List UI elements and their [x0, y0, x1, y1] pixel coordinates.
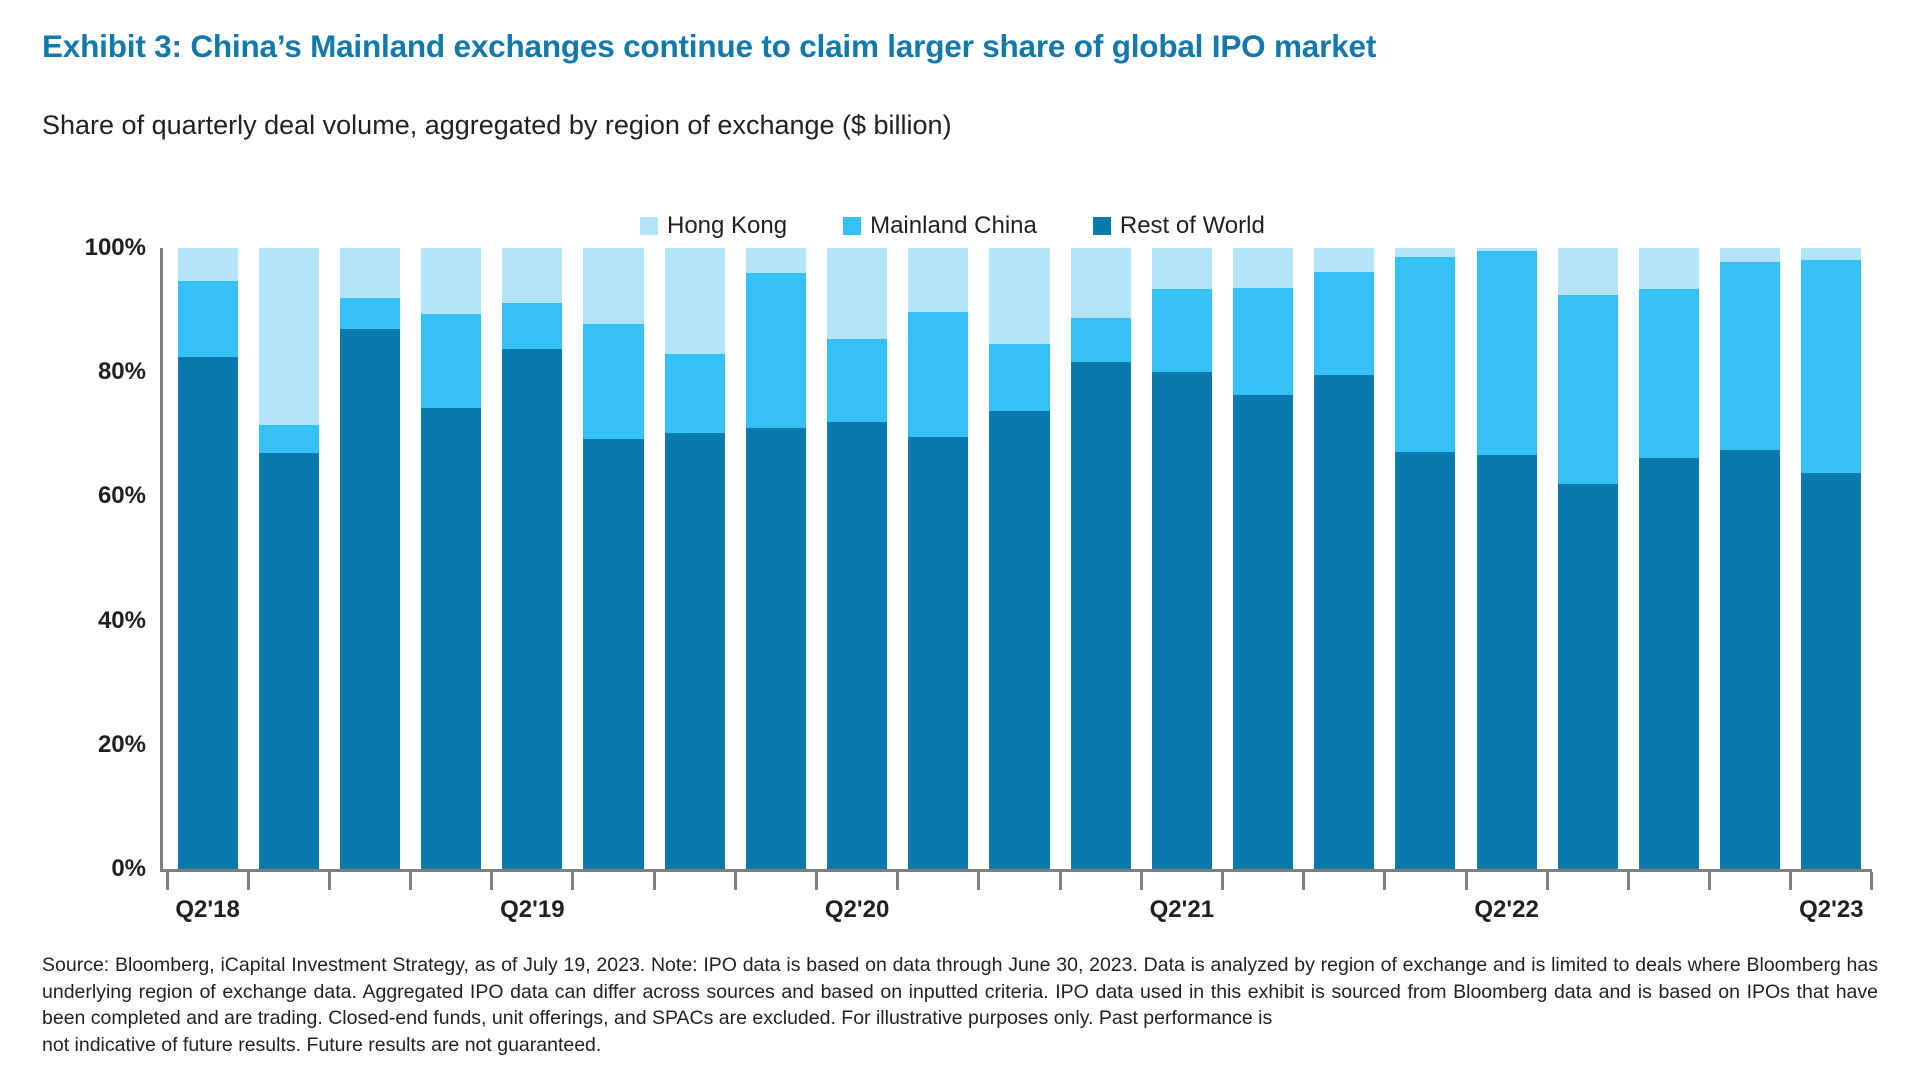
x-tick-cell — [898, 872, 979, 890]
x-tick-mark — [1708, 872, 1711, 890]
bar-slot — [979, 248, 1060, 869]
stacked-bar[interactable] — [746, 248, 806, 869]
x-tick-mark — [1140, 872, 1143, 890]
x-tick-mark — [1221, 872, 1224, 890]
x-tick-mark — [166, 872, 169, 890]
bar-segment-rest-of-world[interactable] — [827, 422, 887, 869]
stacked-bar[interactable] — [827, 248, 887, 869]
x-tick-cell — [167, 872, 248, 890]
x-tick-mark — [1383, 872, 1386, 890]
bar-segment-mainland-china[interactable] — [665, 354, 725, 433]
stacked-bar[interactable] — [1477, 248, 1537, 869]
plot-region — [160, 248, 1872, 872]
x-axis-label-cell — [735, 896, 816, 930]
stacked-bar[interactable] — [502, 248, 562, 869]
stacked-bar[interactable] — [989, 248, 1049, 869]
bar-slot — [1791, 248, 1872, 869]
x-tick-mark — [328, 872, 331, 890]
bar-segment-mainland-china[interactable] — [1071, 318, 1131, 362]
page-subtitle: Share of quarterly deal volume, aggregat… — [42, 110, 1882, 141]
bar-segment-mainland-china[interactable] — [1801, 260, 1861, 473]
bar-segment-rest-of-world[interactable] — [178, 357, 238, 869]
y-axis-tick-label: 100% — [85, 234, 146, 262]
bar-segment-hong-kong[interactable] — [1152, 248, 1212, 289]
bar-segment-mainland-china[interactable] — [827, 339, 887, 422]
y-axis-tick-label: 80% — [98, 358, 146, 386]
x-tick-mark — [896, 872, 899, 890]
x-axis-label-cell — [573, 896, 654, 930]
bar-slot — [1385, 248, 1466, 869]
bar-slot — [1547, 248, 1628, 869]
bar-segment-hong-kong[interactable] — [746, 248, 806, 273]
bar-segment-hong-kong[interactable] — [1395, 248, 1455, 257]
x-axis-label-cell: Q2'18 — [167, 896, 248, 930]
x-axis-label-cell — [1628, 896, 1709, 930]
stacked-bar[interactable] — [1071, 248, 1131, 869]
x-axis-label-cell — [1385, 896, 1466, 930]
bar-segment-hong-kong[interactable] — [340, 248, 400, 298]
x-tick-mark — [1870, 872, 1873, 890]
x-axis-label-cell: Q2'21 — [1141, 896, 1222, 930]
x-tick-mark — [1302, 872, 1305, 890]
x-tick-mark — [1059, 872, 1062, 890]
bar-segment-rest-of-world[interactable] — [1314, 375, 1374, 869]
x-tick-mark — [815, 872, 818, 890]
legend-swatch-mainland-china — [843, 217, 861, 235]
page-title: Exhibit 3: China’s Mainland exchanges co… — [42, 28, 1882, 65]
x-axis-label: Q2'21 — [1150, 896, 1214, 924]
x-tick-mark — [490, 872, 493, 890]
x-axis-label-cell — [248, 896, 329, 930]
stacked-bar[interactable] — [1720, 248, 1780, 869]
bar-segment-hong-kong[interactable] — [502, 248, 562, 303]
bar-segment-rest-of-world[interactable] — [1801, 473, 1861, 869]
bar-segment-hong-kong[interactable] — [989, 248, 1049, 344]
stacked-bar[interactable] — [1152, 248, 1212, 869]
x-tick-cell — [979, 872, 1060, 890]
bar-segment-hong-kong[interactable] — [1720, 248, 1780, 262]
source-footnote: Source: Bloomberg, iCapital Investment S… — [42, 952, 1878, 1058]
bar-slot — [1060, 248, 1141, 869]
bar-segment-rest-of-world[interactable] — [1152, 372, 1212, 869]
bar-segment-rest-of-world[interactable] — [259, 453, 319, 869]
stacked-bar[interactable] — [665, 248, 725, 869]
bar-segment-rest-of-world[interactable] — [908, 437, 968, 869]
x-tick-cell — [735, 872, 816, 890]
x-tick-cell — [654, 872, 735, 890]
stacked-bar[interactable] — [1639, 248, 1699, 869]
bar-segment-hong-kong[interactable] — [583, 248, 643, 324]
bar-segment-rest-of-world[interactable] — [1720, 450, 1780, 869]
x-tick-mark — [571, 872, 574, 890]
bar-slot — [654, 248, 735, 869]
stacked-bar[interactable] — [1395, 248, 1455, 869]
x-tick-cell — [1547, 872, 1628, 890]
x-axis-ticks — [167, 872, 1872, 890]
chart-area: 100%80%60%40%20%0% Q2'18Q2'19Q2'20Q2'21Q… — [42, 236, 1882, 906]
x-axis-label-cell: Q2'22 — [1466, 896, 1547, 930]
x-tick-cell — [1141, 872, 1222, 890]
bar-segment-mainland-china[interactable] — [1314, 272, 1374, 375]
bar-segment-mainland-china[interactable] — [178, 281, 238, 357]
stacked-bar[interactable] — [1558, 248, 1618, 869]
x-tick-mark — [734, 872, 737, 890]
x-axis-label: Q2'22 — [1474, 896, 1538, 924]
bar-segment-mainland-china[interactable] — [502, 303, 562, 348]
x-tick-cell — [411, 872, 492, 890]
x-axis-label-cell — [654, 896, 735, 930]
x-tick-mark — [1465, 872, 1468, 890]
y-axis-tick-label: 20% — [98, 731, 146, 759]
x-tick-cell — [817, 872, 898, 890]
bar-segment-mainland-china[interactable] — [1720, 262, 1780, 451]
bar-segment-hong-kong[interactable] — [178, 248, 238, 281]
bar-segment-rest-of-world[interactable] — [665, 433, 725, 869]
bar-group — [167, 248, 1872, 869]
bar-segment-hong-kong[interactable] — [421, 248, 481, 314]
bar-slot — [573, 248, 654, 869]
stacked-bar[interactable] — [340, 248, 400, 869]
bar-segment-mainland-china[interactable] — [1152, 289, 1212, 372]
bar-segment-mainland-china[interactable] — [340, 298, 400, 329]
bar-segment-rest-of-world[interactable] — [421, 408, 481, 869]
bar-segment-hong-kong[interactable] — [665, 248, 725, 354]
stacked-bar[interactable] — [583, 248, 643, 869]
bar-segment-rest-of-world[interactable] — [989, 411, 1049, 869]
bar-slot — [817, 248, 898, 869]
footnote-last-line: not indicative of future results. Future… — [42, 1032, 1878, 1059]
bar-segment-rest-of-world[interactable] — [1233, 395, 1293, 869]
x-tick-cell — [1304, 872, 1385, 890]
x-axis-label-cell: Q2'20 — [817, 896, 898, 930]
bar-segment-mainland-china[interactable] — [259, 425, 319, 453]
x-axis-label-cell — [329, 896, 410, 930]
bar-segment-mainland-china[interactable] — [1477, 251, 1537, 455]
bar-segment-hong-kong[interactable] — [1233, 248, 1293, 288]
x-axis-label-cell — [1222, 896, 1303, 930]
bar-segment-mainland-china[interactable] — [746, 273, 806, 428]
bar-slot — [411, 248, 492, 869]
x-axis-label: Q2'20 — [825, 896, 889, 924]
x-tick-cell — [1385, 872, 1466, 890]
x-axis-label-cell — [411, 896, 492, 930]
stacked-bar[interactable] — [259, 248, 319, 869]
bar-segment-hong-kong[interactable] — [1314, 248, 1374, 272]
x-axis-label-cell — [1547, 896, 1628, 930]
y-axis-tick-label: 40% — [98, 607, 146, 635]
bar-slot — [1222, 248, 1303, 869]
bar-segment-rest-of-world[interactable] — [340, 329, 400, 869]
bar-segment-rest-of-world[interactable] — [1395, 452, 1455, 869]
bar-segment-mainland-china[interactable] — [989, 344, 1049, 411]
x-tick-cell — [329, 872, 410, 890]
bar-segment-hong-kong[interactable] — [1639, 248, 1699, 289]
bar-segment-mainland-china[interactable] — [908, 312, 968, 437]
stacked-bar[interactable] — [178, 248, 238, 869]
x-axis-label-cell — [1304, 896, 1385, 930]
bar-segment-mainland-china[interactable] — [1233, 288, 1293, 395]
bar-segment-hong-kong[interactable] — [827, 248, 887, 339]
x-axis-label-cell — [1060, 896, 1141, 930]
bar-segment-hong-kong[interactable] — [1801, 248, 1861, 260]
x-tick-cell — [573, 872, 654, 890]
x-tick-mark — [977, 872, 980, 890]
footnote-body: Source: Bloomberg, iCapital Investment S… — [42, 954, 1878, 1029]
stacked-bar[interactable] — [1314, 248, 1374, 869]
x-axis-label-cell: Q2'19 — [492, 896, 573, 930]
x-tick-cell — [1791, 872, 1872, 890]
y-axis-labels: 100%80%60%40%20%0% — [42, 236, 160, 872]
exhibit-page: Exhibit 3: China’s Mainland exchanges co… — [0, 0, 1920, 1080]
x-axis-label: Q2'18 — [175, 896, 239, 924]
bar-segment-rest-of-world[interactable] — [583, 439, 643, 869]
x-tick-cell — [492, 872, 573, 890]
legend-swatch-hong-kong — [640, 217, 658, 235]
x-tick-cell — [1466, 872, 1547, 890]
x-axis-category-labels: Q2'18Q2'19Q2'20Q2'21Q2'22Q2'23 — [167, 896, 1872, 930]
y-axis-tick-label: 60% — [98, 482, 146, 510]
x-tick-mark — [409, 872, 412, 890]
bar-segment-mainland-china[interactable] — [1395, 257, 1455, 451]
bar-slot — [1141, 248, 1222, 869]
bar-segment-rest-of-world[interactable] — [1558, 484, 1618, 869]
stacked-bar[interactable] — [908, 248, 968, 869]
bar-segment-rest-of-world[interactable] — [1477, 455, 1537, 869]
x-tick-cell — [1060, 872, 1141, 890]
bar-segment-hong-kong[interactable] — [259, 248, 319, 425]
x-tick-cell — [248, 872, 329, 890]
x-axis-label-cell — [898, 896, 979, 930]
bar-slot — [167, 248, 248, 869]
x-tick-cell — [1628, 872, 1709, 890]
stacked-bar[interactable] — [1801, 248, 1861, 869]
bar-segment-hong-kong[interactable] — [1558, 248, 1618, 295]
bar-segment-rest-of-world[interactable] — [746, 428, 806, 869]
bar-slot — [248, 248, 329, 869]
bar-segment-mainland-china[interactable] — [1639, 289, 1699, 458]
bar-segment-rest-of-world[interactable] — [1071, 362, 1131, 869]
x-axis-label-cell — [979, 896, 1060, 930]
x-tick-cell — [1710, 872, 1791, 890]
bar-segment-rest-of-world[interactable] — [1639, 458, 1699, 869]
bar-slot — [492, 248, 573, 869]
y-axis-line — [160, 248, 163, 872]
bar-slot — [1710, 248, 1791, 869]
bar-slot — [898, 248, 979, 869]
x-axis-label: Q2'19 — [500, 896, 564, 924]
x-tick-cell — [1222, 872, 1303, 890]
bar-slot — [1628, 248, 1709, 869]
bar-slot — [329, 248, 410, 869]
x-axis-label-cell — [1710, 896, 1791, 930]
y-axis-tick-label: 0% — [111, 855, 146, 883]
bar-segment-hong-kong[interactable] — [1071, 248, 1131, 318]
bar-segment-mainland-china[interactable] — [421, 314, 481, 407]
x-axis-label-cell: Q2'23 — [1791, 896, 1872, 930]
x-tick-mark — [653, 872, 656, 890]
legend-swatch-rest-of-world — [1093, 217, 1111, 235]
stacked-bar[interactable] — [1233, 248, 1293, 869]
bar-segment-rest-of-world[interactable] — [502, 349, 562, 869]
x-tick-mark — [1546, 872, 1549, 890]
bar-segment-hong-kong[interactable] — [908, 248, 968, 312]
x-axis-label: Q2'23 — [1799, 896, 1863, 924]
bar-segment-mainland-china[interactable] — [583, 324, 643, 439]
x-tick-mark — [1627, 872, 1630, 890]
bar-slot — [1466, 248, 1547, 869]
stacked-bar[interactable] — [421, 248, 481, 869]
x-tick-mark — [247, 872, 250, 890]
bar-slot — [1304, 248, 1385, 869]
x-tick-mark — [1789, 872, 1792, 890]
bar-segment-mainland-china[interactable] — [1558, 295, 1618, 484]
bar-slot — [735, 248, 816, 869]
